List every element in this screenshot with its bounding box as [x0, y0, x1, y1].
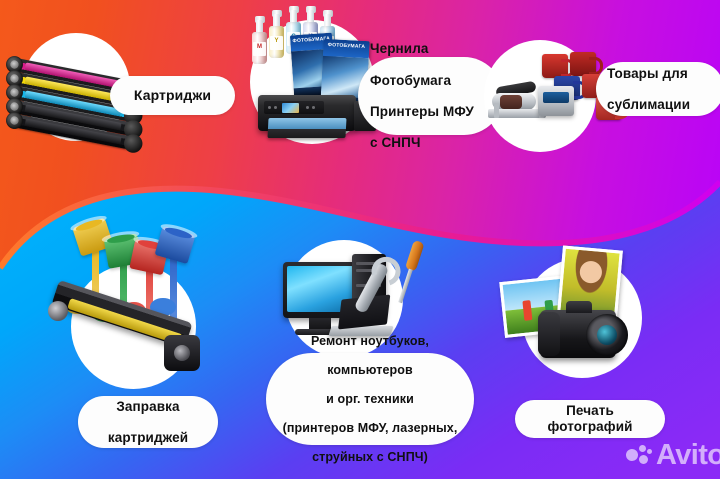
pill-repair-line-4: (принтеров МФУ, лазерных,	[280, 421, 460, 436]
pill-photo-print-label: Печать фотографий	[529, 403, 651, 434]
avito-watermark: Avito	[626, 441, 720, 470]
pill-cartridges-label: Картриджи	[124, 87, 221, 103]
promo-poster: Картриджи M Y C K C	[0, 0, 720, 479]
avito-dots-icon	[626, 444, 652, 468]
pill-refill-line-1: Заправка	[92, 399, 204, 415]
pill-sublimation[interactable]: Товары для сублимации	[596, 62, 720, 116]
pill-cartridges[interactable]: Картриджи	[110, 76, 235, 115]
pill-ink-printers[interactable]: Чернила Фотобумага Принтеры МФУ с СНПЧ	[358, 57, 503, 135]
toner-drum-icon	[52, 295, 212, 355]
pill-refill-line-2: картриджей	[92, 430, 204, 446]
pill-ink-line-3: Принтеры МФУ	[370, 104, 489, 120]
pill-repair[interactable]: Ремонт ноутбуков, компьютеров и орг. тех…	[266, 353, 474, 445]
dslr-camera-icon	[540, 310, 616, 358]
pill-photo-print[interactable]: Печать фотографий	[515, 400, 665, 438]
pill-sublimation-line-1: Товары для	[607, 66, 710, 82]
pill-repair-line-2: компьютеров	[280, 363, 460, 378]
pill-repair-line-5: струйных с СНПЧ)	[280, 450, 460, 465]
avito-wordmark: Avito	[656, 441, 720, 470]
pill-repair-line-3: и орг. техники	[280, 392, 460, 407]
pill-ink-line-4: с СНПЧ	[370, 135, 489, 151]
pill-sublimation-line-2: сублимации	[607, 97, 710, 113]
pill-ink-line-1: Чернила	[370, 41, 489, 57]
pill-refill[interactable]: Заправка картриджей	[78, 396, 218, 448]
printer-icon	[258, 95, 356, 131]
mug-press-machine-icon	[538, 86, 574, 116]
pill-ink-line-2: Фотобумага	[370, 73, 489, 89]
pill-repair-line-1: Ремонт ноутбуков,	[280, 334, 460, 349]
